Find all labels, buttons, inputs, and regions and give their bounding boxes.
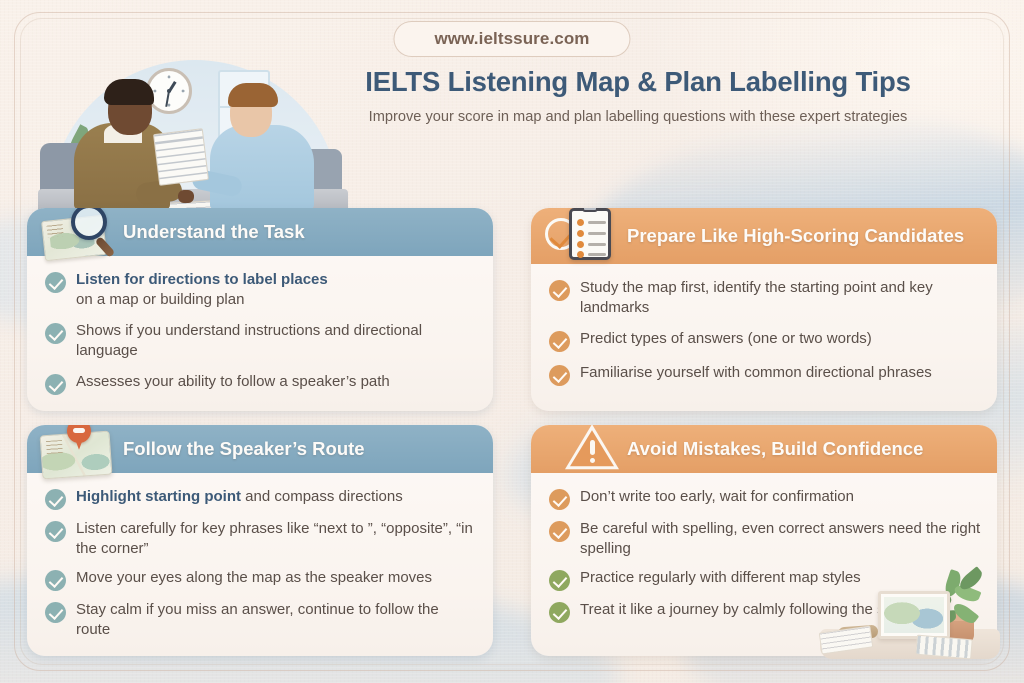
list-item: Be careful with spelling, even correct a… [549,519,981,559]
card-title: Follow the Speaker’s Route [123,438,379,459]
card-bullet-list: Study the map first, identify the starti… [531,264,997,402]
check-circle-icon [45,323,66,344]
bullet-text: Familiarise yourself with common directi… [580,363,932,383]
bullet-text: Study the map first, identify the starti… [580,278,981,318]
header-text-block: IELTS Listening Map & Plan Labelling Tip… [270,66,1006,127]
check-circle-icon [549,489,570,510]
page-subtitle: Improve your score in map and plan label… [270,108,1006,127]
check-circle-icon [549,365,570,386]
check-circle-icon [45,602,66,623]
bullet-text: and compass directions [245,488,403,505]
warning-triangle-icon [543,425,623,481]
bullet-text: Don’t write too early, wait for confirma… [580,487,854,507]
list-item: Shows if you understand instructions and… [45,321,477,361]
bullet-text: Shows if you understand instructions and… [76,321,477,361]
card-understand-the-task: Understand the Task Listen for direction… [27,208,493,411]
bullet-text: Listen carefully for key phrases like “n… [76,519,477,559]
check-circle-icon [45,521,66,542]
list-item: Listen carefully for key phrases like “n… [45,519,477,559]
card-avoid-mistakes-build-confidence: Avoid Mistakes, Build Confidence Don’t w… [531,425,997,656]
check-circle-icon [549,570,570,591]
bullet-text: Treat it like a journey by calmly follow… [580,600,930,620]
clipboard-checklist-icon [543,208,623,264]
list-item: Move your eyes along the map as the spea… [45,568,477,591]
check-circle-icon [549,280,570,301]
card-bullet-list: Don’t write too early, wait for confirma… [531,473,997,639]
check-circle-icon [45,570,66,591]
list-item: Practice regularly with different map st… [549,568,981,591]
map-pin-icon [39,425,119,481]
infographic-page: www.ieltssure.com IELTS Listening Map & … [0,0,1024,683]
check-circle-icon [45,374,66,395]
card-header: Understand the Task [27,208,493,256]
list-item: Assesses your ability to follow a speake… [45,372,477,395]
magnifier-over-map-icon [39,208,119,264]
list-item: Predict types of answers (one or two wor… [549,329,981,352]
site-url-badge: www.ieltssure.com [393,21,630,57]
bullet-text: Assesses your ability to follow a speake… [76,372,390,392]
bullet-text: on a map or building plan [76,291,244,308]
bullet-strong-text: Listen for directions to label places [76,271,328,288]
card-bullet-list: Highlight starting point and compass dir… [27,473,493,656]
list-item: Highlight starting point and compass dir… [45,487,477,510]
check-circle-icon [45,489,66,510]
list-item: Familiarise yourself with common directi… [549,363,981,386]
bullet-text: Practice regularly with different map st… [580,568,861,588]
check-circle-icon [549,331,570,352]
card-header: Avoid Mistakes, Build Confidence [531,425,997,473]
list-item: Listen for directions to label placeson … [45,270,477,310]
card-title: Avoid Mistakes, Build Confidence [627,438,937,459]
bullet-text: Move your eyes along the map as the spea… [76,568,432,588]
check-circle-icon [45,272,66,293]
check-circle-icon [549,521,570,542]
card-title: Understand the Task [123,221,319,242]
bullet-strong-text: Highlight starting point [76,488,241,505]
tips-card-grid: Understand the Task Listen for direction… [27,208,997,656]
card-header: Prepare Like High-Scoring Candidates [531,208,997,264]
card-prepare-like-high-scoring-candidates: Prepare Like High-Scoring Candidates Stu… [531,208,997,411]
page-title: IELTS Listening Map & Plan Labelling Tip… [270,66,1006,98]
bullet-text: Stay calm if you miss an answer, continu… [76,600,477,640]
card-header: Follow the Speaker’s Route [27,425,493,473]
bullet-text: Be careful with spelling, even correct a… [580,519,981,559]
bullet-text: Predict types of answers (one or two wor… [580,329,872,349]
card-follow-the-speakers-route: Follow the Speaker’s Route Highlight sta… [27,425,493,656]
card-bullet-list: Listen for directions to label placeson … [27,256,493,411]
list-item: Stay calm if you miss an answer, continu… [45,600,477,640]
list-item: Don’t write too early, wait for confirma… [549,487,981,510]
list-item: Treat it like a journey by calmly follow… [549,600,981,623]
list-item: Study the map first, identify the starti… [549,278,981,318]
card-title: Prepare Like High-Scoring Candidates [627,225,978,246]
check-circle-icon [549,602,570,623]
